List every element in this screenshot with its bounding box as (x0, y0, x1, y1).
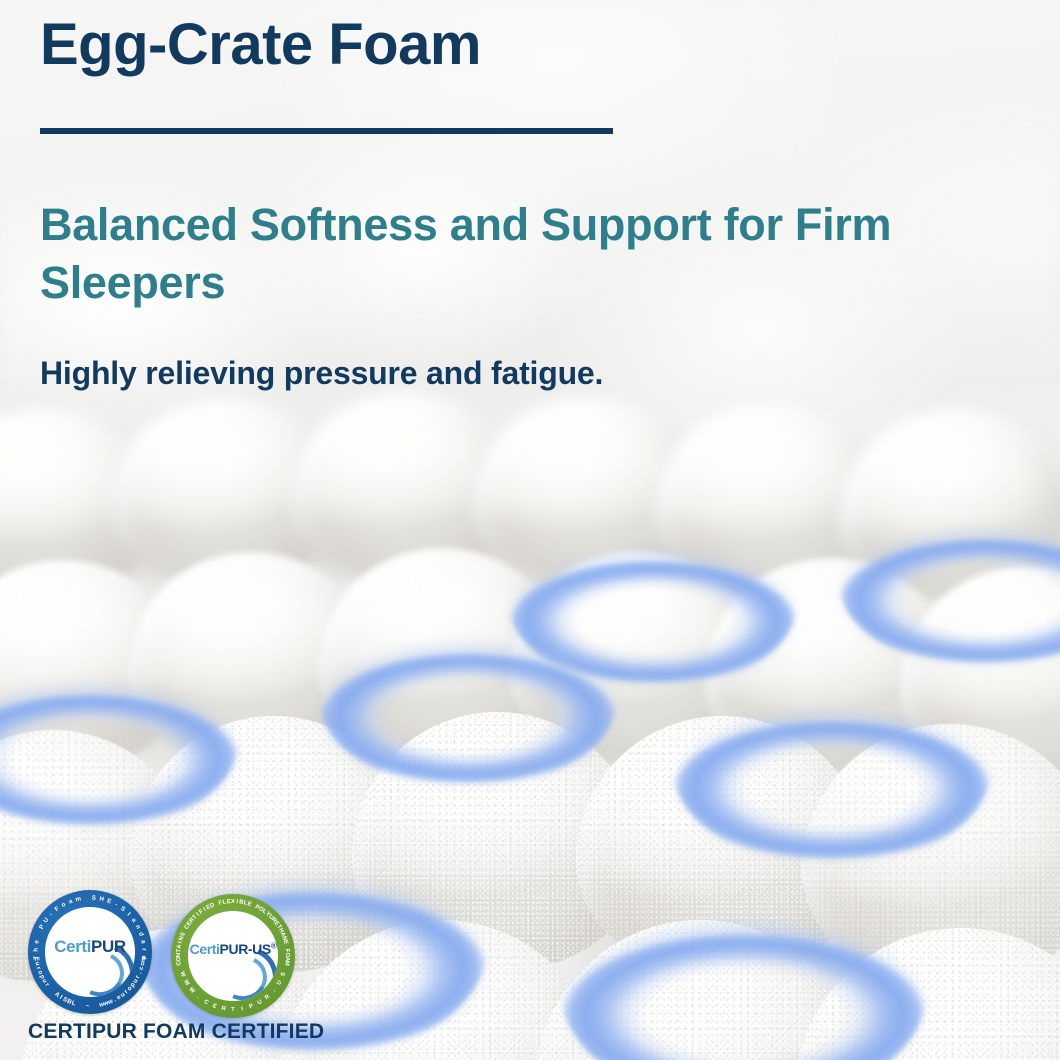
product-feature-image: Egg-Crate Foam Balanced Softness and Sup… (0, 0, 1060, 1060)
badge-wordmark-dark: PUR-US (220, 941, 271, 957)
subheading: Balanced Softness and Support for Firm S… (40, 196, 970, 311)
tagline: Highly relieving pressure and fatigue. (40, 355, 603, 392)
badge-wordmark-dark: PUR (91, 937, 126, 956)
certipur-europe-badge: The PU-Foam SHE-Standard Europur AISBL –… (28, 890, 152, 1014)
badge-wordmark-light: Certi (54, 937, 91, 956)
badge-disc: CertiPUR (45, 907, 134, 996)
certification-group: The PU-Foam SHE-Standard Europur AISBL –… (24, 890, 444, 1050)
certification-caption: CERTIPUR FOAM CERTIFIED (28, 1020, 324, 1044)
badge-wordmark: CertiPUR (45, 937, 134, 957)
badge-wordmark: CertiPUR-US® (188, 941, 277, 957)
page-title: Egg-Crate Foam (40, 14, 481, 75)
badge-wordmark-light: Certi (190, 941, 220, 957)
badge-disc: CertiPUR-US® (188, 911, 277, 1000)
title-divider-rule (40, 128, 613, 134)
registered-mark: ® (271, 941, 277, 950)
certipur-us-badge: CONTAINS CERTIFIED FLEXIBLE POLYURETHANE… (171, 894, 295, 1018)
